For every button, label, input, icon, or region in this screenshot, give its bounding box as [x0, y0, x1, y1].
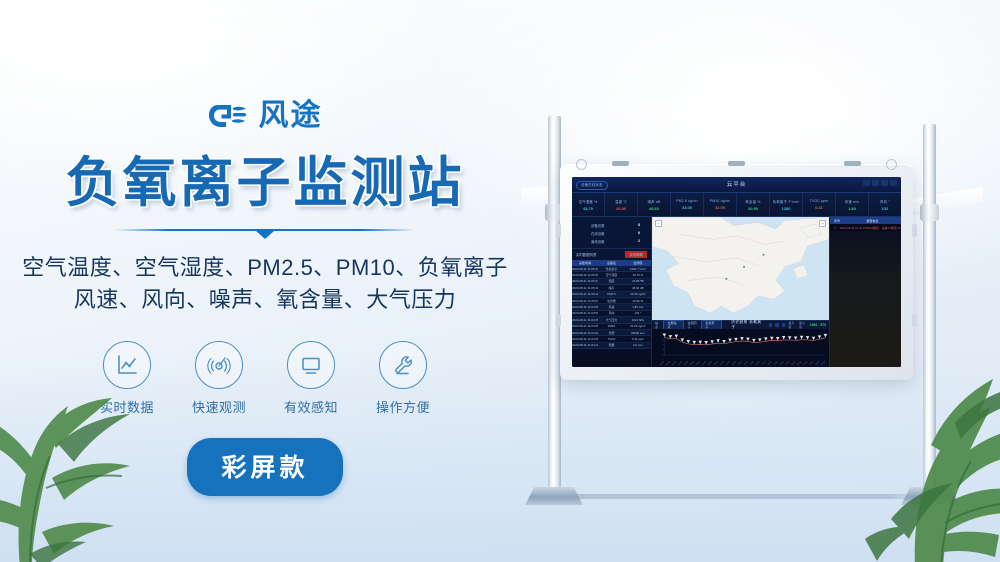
table-cell: 2023-08-21 11:05:30 [572, 273, 598, 277]
metric-label: 负氧离子 个/cm³ [773, 199, 800, 204]
table-cell: 2023-08-21 11:04:32 [572, 331, 598, 335]
metric-value: 1.80 [848, 206, 856, 211]
mount-hook-right-icon [886, 159, 897, 170]
metric-label: 温度 ℃ [615, 199, 627, 204]
svg-text:26:00: 26:00 [815, 361, 821, 367]
metric-card: 噪声 dB48.60 [638, 193, 671, 216]
line-chart-icon [103, 341, 151, 389]
toolbar-icon[interactable] [769, 323, 773, 327]
hero-subtitle: 空气温度、空气湿度、PM2.5、PM10、负氧离子 风速、风向、噪声、氧含量、大… [22, 252, 508, 314]
metric-value: 132 [882, 206, 889, 211]
table-cell: 2023-08-21 11:04:25 [572, 337, 598, 341]
feature-item-fast-observation[interactable]: 快速观测 [188, 341, 250, 416]
base-plate-left [525, 487, 583, 505]
metric-label: 噪声 dB [648, 199, 661, 204]
stat-label: 离线设备 [591, 239, 605, 244]
device-stats: 设备总数8在线设备6离线设备2 [572, 217, 651, 249]
feature-item-effective-sensing[interactable]: 有效感知 [280, 341, 342, 416]
dashboard-header: 设备在线状态 云平台 [572, 177, 901, 193]
toolbar-icon[interactable] [872, 180, 879, 186]
map-canvas[interactable]: + − [652, 217, 829, 320]
svg-text:12:00: 12:00 [732, 361, 738, 367]
base-plate-right [901, 487, 959, 505]
color-screen-model-button[interactable]: 彩屏款 [187, 438, 342, 496]
metric-card: 风向 °132 [869, 193, 901, 216]
svg-text:01:00: 01:00 [666, 361, 672, 367]
subtitle-line-2: 风速、风向、噪声、氧含量、大气压力 [22, 284, 508, 315]
table-cell: 0.0 mm [625, 343, 651, 347]
alarm-col-message: 报警信息 [844, 219, 901, 223]
metric-card: 温度 ℃26.80 [605, 193, 638, 216]
stat-label: 在线设备 [591, 231, 605, 236]
stat-row: 设备总数8 [577, 221, 646, 229]
metric-value: 32.00 [715, 205, 725, 210]
dashboard-left-column: 设备总数8在线设备6离线设备2 实时数据列表 实时刷新 采集时间设备名监测值20… [572, 217, 652, 367]
svg-text:18:00: 18:00 [767, 361, 773, 367]
alarm-index: 1 [830, 226, 840, 230]
metric-label: 风向 ° [880, 199, 890, 204]
svg-text:23:00: 23:00 [797, 361, 803, 367]
wind-leaf-g-logo-icon [208, 99, 250, 133]
toolbar-icon[interactable] [782, 323, 786, 327]
mount-tab [844, 161, 861, 166]
table-cell: 2023-08-21 11:04:38 [572, 324, 598, 328]
table-cell: 大气压力 [598, 318, 624, 322]
s-curve-canopy [511, 86, 981, 161]
svg-text:19:00: 19:00 [773, 361, 779, 367]
svg-text:02:00: 02:00 [672, 361, 678, 367]
chart-toolbar[interactable]: 站点 全部站点 监测因子 负氧离子 历史趋势 负氧离子 最大值 最小值 1560 [652, 320, 829, 329]
stat-label: 设备总数 [591, 223, 605, 228]
data-table[interactable]: 采集时间设备名监测值2023-08-21 11:05:37负氧离子1280 个/… [572, 260, 651, 349]
stat-value: 6 [638, 231, 640, 235]
metric-card: 负氧离子 个/cm³1280 [770, 193, 803, 216]
refresh-badge: 实时刷新 [625, 251, 647, 258]
metric-label: PM2.5 ug/m³ [676, 199, 698, 203]
svg-text:05:00: 05:00 [690, 361, 696, 367]
table-section-header: 实时数据列表 实时刷新 [572, 249, 651, 260]
table-cell: 1013 hPa [625, 318, 651, 322]
metric-label: 空气湿度 % [579, 199, 598, 204]
metric-card: PM10 ug/m³32.00 [704, 193, 737, 216]
table-section-label: 实时数据列表 [576, 252, 596, 257]
table-cell: 风向 [598, 311, 624, 315]
svg-text:00:00: 00:00 [660, 361, 666, 367]
svg-text:21:00: 21:00 [785, 361, 791, 367]
table-cell: 2023-08-21 11:04:19 [572, 343, 598, 347]
cabinet-side-bracket [912, 224, 917, 237]
feature-label: 有效感知 [284, 397, 338, 416]
post-collar [920, 204, 939, 221]
map-panel[interactable]: + − 站点 全部站点 监测因子 负氧离子 历史趋势 负氧离子 [652, 217, 829, 367]
table-column-header: 采集时间 [572, 261, 598, 265]
feature-label: 快速观测 [192, 397, 246, 416]
metric-value: 23.00 [682, 205, 692, 210]
stat-row: 在线设备6 [577, 229, 646, 237]
stat-value: 2 [638, 239, 640, 243]
toolbar-icon[interactable] [881, 180, 888, 186]
table-column-header: 设备名 [598, 261, 624, 265]
metric-label: PM10 ug/m³ [710, 199, 730, 203]
table-cell: 空气湿度 [598, 273, 624, 277]
feature-label: 实时数据 [100, 397, 154, 416]
product-banner: 风途 负氧离子监测站 空气温度、空气湿度、PM2.5、PM10、负氧离子 风速、… [0, 0, 1000, 562]
mount-tab [728, 161, 745, 166]
table-cell: 2023-08-21 11:05:11 [572, 292, 598, 296]
lcd-screen[interactable]: 设备在线状态 云平台 空气湿度 %43.70温度 ℃26.80噪声 dB48.6… [572, 177, 901, 367]
reading-min: 870 [820, 323, 826, 327]
monitor-screen-icon [287, 341, 335, 389]
svg-text:27:00: 27:00 [821, 361, 827, 367]
metric-card: TVOC ppm0.31 [803, 193, 836, 216]
metric-strip: 空气湿度 %43.70温度 ℃26.80噪声 dB48.60PM2.5 ug/m… [572, 193, 901, 217]
brand-logo: 风途 [208, 96, 323, 136]
metric-card: 风速 m/s1.80 [836, 193, 869, 216]
mount-tab [612, 161, 629, 166]
svg-text:09:00: 09:00 [714, 361, 720, 367]
wrench-icon [379, 341, 427, 389]
alarm-row[interactable]: 1 2023-08-21 10:42:07 PM10超标：设备03 数值 32.… [830, 224, 901, 231]
support-post-right [923, 124, 936, 491]
stat-value: 8 [638, 223, 640, 227]
legend-max: 最大值 [788, 321, 796, 329]
cabinet-side-bracket [556, 314, 561, 327]
table-cell: TVOC [598, 337, 624, 341]
metric-value: 1280 [782, 206, 791, 211]
svg-text:22:00: 22:00 [791, 361, 797, 367]
table-cell: 20.90 % [625, 299, 651, 303]
trend-chart[interactable]: 00:0001:0002:0003:0004:0005:0006:0007:00… [652, 329, 829, 367]
table-column-header: 监测值 [625, 261, 651, 265]
metric-value: 0.31 [815, 205, 823, 210]
metric-card: 氧含量 %20.90 [737, 193, 770, 216]
svg-text:04:00: 04:00 [684, 361, 690, 367]
svg-text:10:00: 10:00 [720, 361, 726, 367]
table-cell: 温度 [598, 279, 624, 283]
table-cell: 18600 Lux [625, 331, 651, 335]
display-cabinet: 设备在线状态 云平台 空气湿度 %43.70温度 ℃26.80噪声 dB48.6… [560, 164, 913, 380]
mount-hook-left-icon [576, 159, 587, 170]
monitoring-station-product: 设备在线状态 云平台 空气湿度 %43.70温度 ℃26.80噪声 dB48.6… [505, 0, 1000, 562]
dashboard-toolbar[interactable] [863, 180, 897, 186]
table-cell: 2023-08-21 11:05:37 [572, 267, 598, 271]
station-label: 站点 [655, 321, 660, 329]
cabinet-side-bracket [556, 224, 561, 237]
feature-label: 操作方便 [376, 397, 430, 416]
legend-min: 最小值 [799, 321, 807, 329]
stat-row: 离线设备2 [577, 237, 646, 245]
table-cell: 26.80 ℃ [625, 279, 651, 283]
svg-text:15:00: 15:00 [749, 361, 755, 367]
table-cell: 风速 [598, 305, 624, 309]
feature-item-easy-operation[interactable]: 操作方便 [372, 341, 434, 416]
feature-list: 实时数据 快速观测 [96, 341, 434, 416]
metric-value: 43.70 [583, 206, 593, 211]
svg-text:07:00: 07:00 [702, 361, 708, 367]
table-cell: 2023-08-21 11:05:04 [572, 299, 598, 303]
metric-label: 风速 m/s [845, 199, 859, 204]
alarm-time: 2023-08-21 10:42:07 [840, 226, 866, 230]
table-cell: 43.70 % [625, 273, 651, 277]
alarm-header: 序号 报警信息 [830, 217, 901, 224]
table-cell: 噪声 [598, 286, 624, 290]
hero-text-panel: 风途 负氧离子监测站 空气温度、空气湿度、PM2.5、PM10、负氧离子 风速、… [0, 0, 530, 562]
table-cell: 雨量 [598, 343, 624, 347]
ground-shadow [533, 494, 933, 499]
table-cell: 2023-08-21 11:04:58 [572, 305, 598, 309]
alarm-empty-area [830, 231, 901, 367]
metric-label: 氧含量 % [745, 199, 760, 204]
svg-text:06:00: 06:00 [696, 361, 702, 367]
alarm-message: PM10超标：设备03 数值 32.00 ug/m³ [866, 226, 901, 230]
svg-text:11:00: 11:00 [726, 361, 731, 366]
foliage-right [795, 353, 1000, 562]
table-cell: 132 ° [625, 311, 651, 315]
brand-name: 风途 [259, 101, 323, 131]
cabinet-side-bracket [912, 314, 917, 327]
factor-label: 监测因子 [687, 321, 698, 329]
divider-triangle-icon [256, 231, 274, 239]
toolbar-icon[interactable] [775, 323, 779, 327]
metric-card: PM2.5 ug/m³23.00 [671, 193, 704, 216]
table-cell: 2023-08-21 11:04:51 [572, 311, 598, 315]
table-cell: PM2.5 [598, 292, 624, 296]
page-title: 负氧离子监测站 [66, 154, 465, 212]
table-cell: 2023-08-21 11:04:45 [572, 318, 598, 322]
svg-text:16:00: 16:00 [755, 361, 761, 367]
metric-value: 48.60 [649, 206, 659, 211]
ultrasonic-weather-sensor-icon [823, 48, 869, 128]
svg-text:13:00: 13:00 [738, 361, 744, 367]
table-cell: 1280 个/cm³ [625, 267, 651, 271]
metric-value: 26.80 [616, 206, 626, 211]
map-zoom-out-button[interactable]: − [655, 220, 662, 227]
table-cell: 负氧离子 [598, 267, 624, 271]
svg-text:03:00: 03:00 [678, 361, 684, 367]
svg-text:08:00: 08:00 [708, 361, 714, 367]
subtitle-line-1: 空气温度、空气湿度、PM2.5、PM10、负氧离子 [22, 252, 508, 283]
table-cell: PM10 [598, 324, 624, 328]
metric-value: 20.90 [748, 206, 758, 211]
title-divider [115, 226, 415, 238]
reading-max: 1560 [810, 323, 818, 327]
svg-text:14:00: 14:00 [744, 361, 750, 367]
table-cell: 氧含量 [598, 299, 624, 303]
toolbar-icon[interactable] [863, 180, 870, 186]
feature-item-realtime-data[interactable]: 实时数据 [96, 341, 158, 416]
svg-text:25:00: 25:00 [809, 361, 815, 367]
table-row[interactable]: 2023-08-21 11:04:19雨量0.0 mm [572, 343, 651, 349]
svg-text:17:00: 17:00 [761, 361, 767, 367]
metric-card: 空气湿度 %43.70 [572, 193, 605, 216]
table-cell: 32.00 ug/m³ [625, 324, 651, 328]
svg-text:24:00: 24:00 [803, 361, 809, 367]
table-cell: 光照 [598, 331, 624, 335]
table-cell: 2023-08-21 11:05:24 [572, 279, 598, 283]
table-cell: 48.60 dB [625, 286, 651, 290]
radar-sensor-icon [195, 341, 243, 389]
toolbar-icon[interactable] [890, 180, 897, 186]
table-cell: 1.80 m/s [625, 305, 651, 309]
dashboard-title: 云平台 [572, 180, 901, 188]
metric-label: TVOC ppm [810, 199, 829, 203]
table-cell: 2023-08-21 11:05:18 [572, 286, 598, 290]
map-zoom-in-button[interactable]: + [819, 220, 826, 227]
table-cell: 23.00 ug/m³ [625, 292, 651, 296]
alarm-col-index: 序号 [830, 219, 844, 223]
alarm-panel: 序号 报警信息 1 2023-08-21 10:42:07 PM10超标：设备0… [829, 217, 901, 367]
svg-text:20:00: 20:00 [779, 361, 785, 367]
table-cell: 0.31 ppm [625, 337, 651, 341]
dashboard-body: 设备总数8在线设备6离线设备2 实时数据列表 实时刷新 采集时间设备名监测值20… [572, 217, 901, 367]
